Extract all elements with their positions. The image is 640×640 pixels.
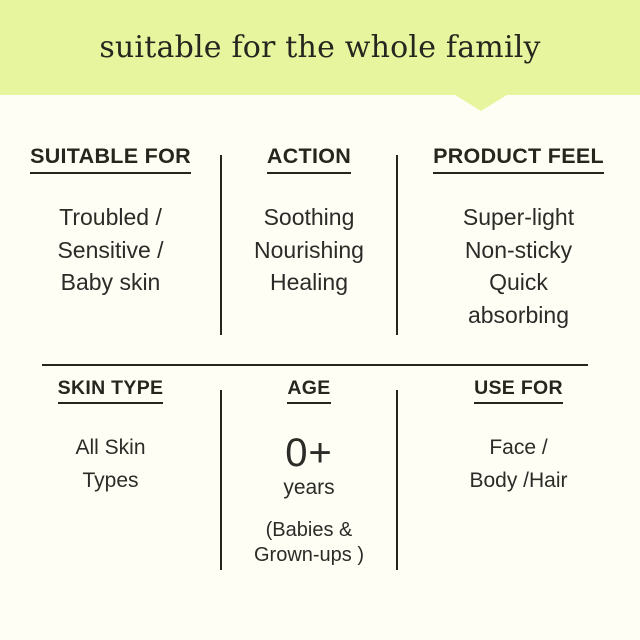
- column-body-product-feel: Super-light Non-sticky Quick absorbing: [463, 201, 574, 333]
- age-unit: years: [254, 475, 364, 501]
- cell-skin-type: SKIN TYPE All Skin Types: [0, 378, 221, 640]
- column-body-skin-type: All Skin Types: [75, 432, 145, 497]
- age-value: 0+: [254, 432, 364, 474]
- body-line: absorbing: [463, 299, 574, 332]
- body-line: Baby skin: [57, 266, 163, 299]
- table-row: SUITABLE FOR Troubled / Sensitive / Baby…: [0, 145, 640, 395]
- column-body-use-for: Face / Body /Hair: [469, 432, 567, 497]
- header-banner: suitable for the whole family: [0, 0, 640, 95]
- cell-use-for: USE FOR Face / Body /Hair: [397, 378, 640, 640]
- body-line: All Skin: [75, 432, 145, 465]
- column-header-age: AGE: [287, 378, 330, 404]
- body-line: Troubled /: [57, 201, 163, 234]
- column-body-suitable-for: Troubled / Sensitive / Baby skin: [57, 201, 163, 300]
- table-row: SKIN TYPE All Skin Types AGE 0+ years (B…: [0, 378, 640, 640]
- cell-age: AGE 0+ years (Babies & Grown-ups ): [221, 378, 397, 640]
- cell-action: ACTION Soothing Nourishing Healing: [221, 145, 397, 395]
- body-line: Grown-ups ): [254, 543, 364, 569]
- cell-suitable-for: SUITABLE FOR Troubled / Sensitive / Baby…: [0, 145, 221, 395]
- cell-product-feel: PRODUCT FEEL Super-light Non-sticky Quic…: [397, 145, 640, 395]
- body-line: Body /Hair: [469, 465, 567, 498]
- column-header-suitable-for: SUITABLE FOR: [30, 145, 191, 174]
- body-line: (Babies &: [254, 518, 364, 544]
- body-line: Non-sticky: [463, 234, 574, 267]
- column-header-use-for: USE FOR: [474, 378, 563, 404]
- column-header-skin-type: SKIN TYPE: [58, 378, 164, 404]
- body-line: Soothing: [254, 201, 364, 234]
- age-note: (Babies & Grown-ups ): [254, 518, 364, 569]
- infographic-page: suitable for the whole family SUITABLE F…: [0, 0, 640, 640]
- body-line: Healing: [254, 266, 364, 299]
- column-header-action: ACTION: [267, 145, 351, 174]
- body-line: Types: [75, 465, 145, 498]
- page-title: suitable for the whole family: [99, 33, 540, 63]
- body-line: Super-light: [463, 201, 574, 234]
- column-body-action: Soothing Nourishing Healing: [254, 201, 364, 300]
- body-line: Quick: [463, 266, 574, 299]
- body-line: Nourishing: [254, 234, 364, 267]
- specs-table: SUITABLE FOR Troubled / Sensitive / Baby…: [0, 95, 640, 640]
- body-line: Sensitive /: [57, 234, 163, 267]
- body-line: Face /: [469, 432, 567, 465]
- column-header-product-feel: PRODUCT FEEL: [433, 145, 604, 174]
- column-body-age: 0+ years (Babies & Grown-ups ): [254, 432, 364, 568]
